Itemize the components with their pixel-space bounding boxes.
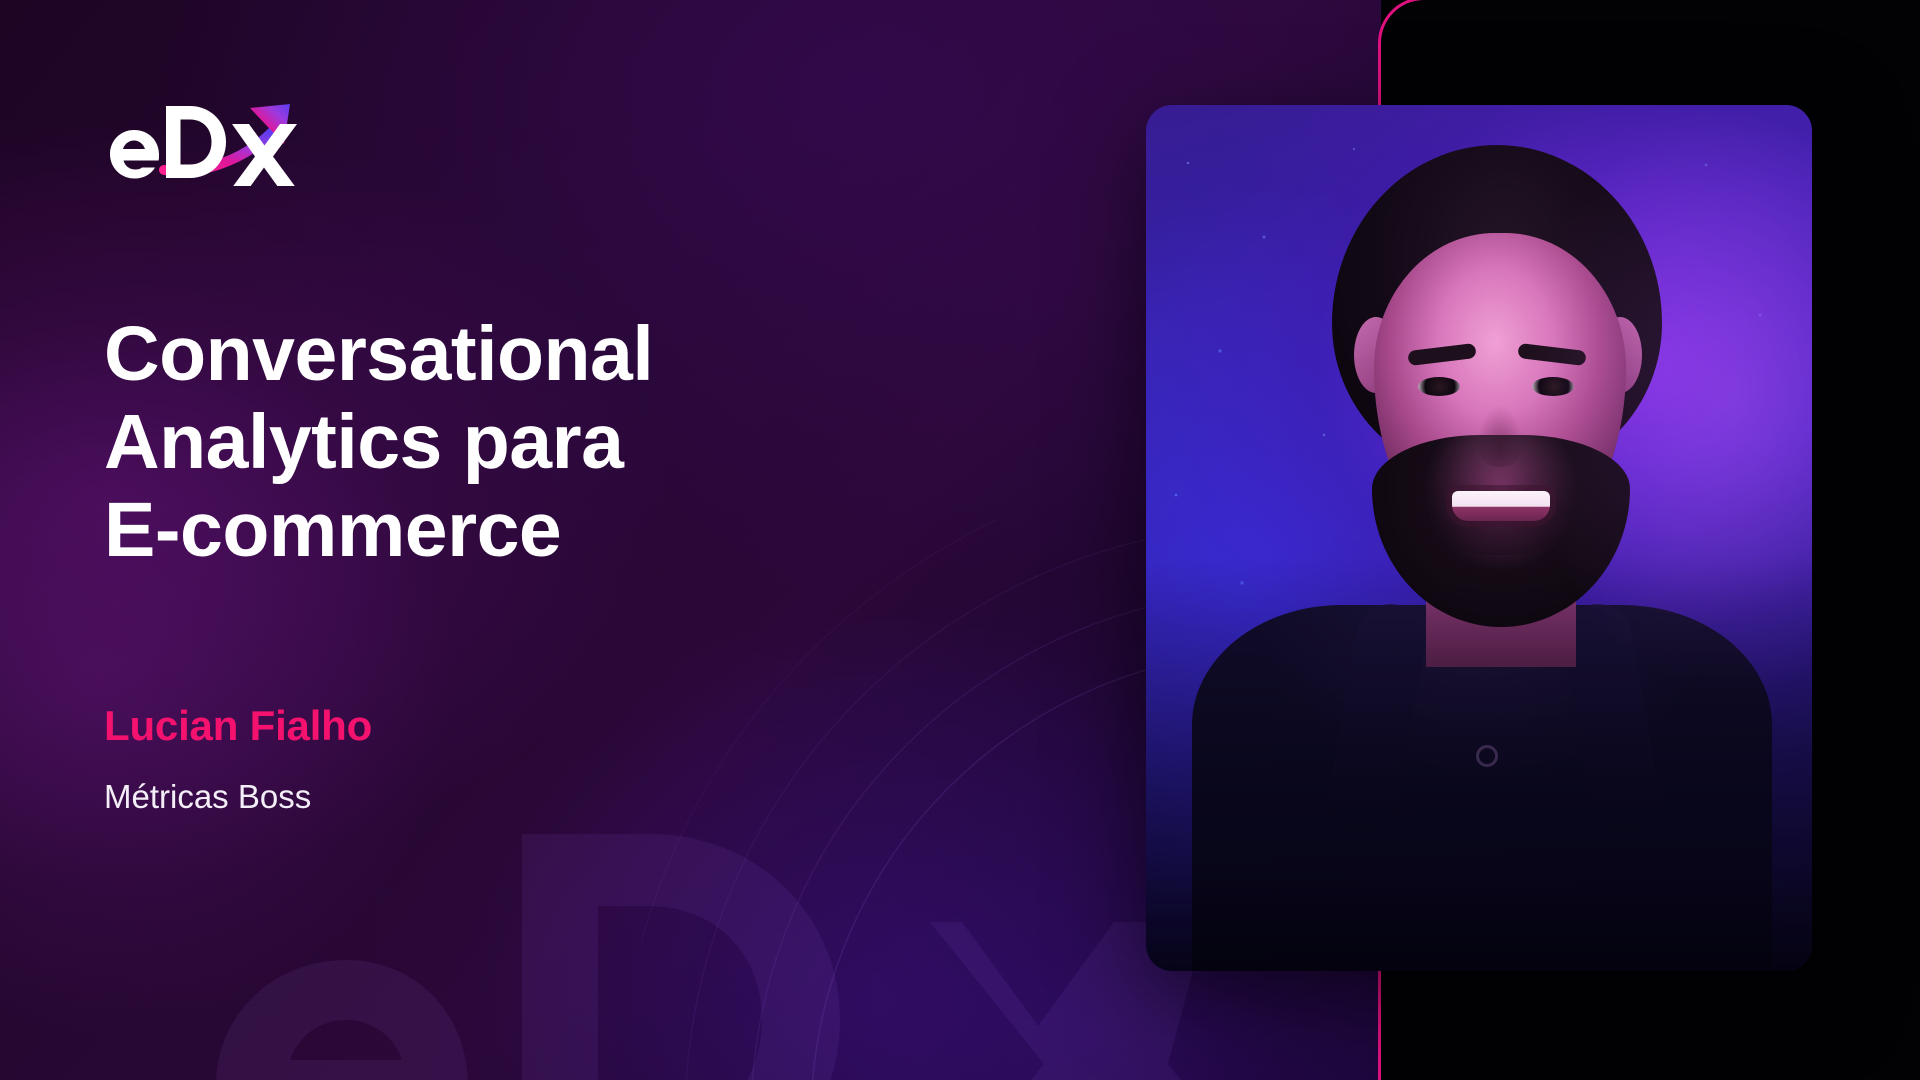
slide-content: Conversational Analytics para E-commerce… <box>104 0 864 1080</box>
subject-mouth <box>1452 491 1550 521</box>
subject-beard <box>1372 435 1630 627</box>
speaker-role: Métricas Boss <box>104 778 311 816</box>
title-line-3: E-commerce <box>104 486 804 574</box>
portrait-subject <box>1146 105 1812 971</box>
title-line-1: Conversational <box>104 310 804 398</box>
subject-zipper-icon <box>1476 745 1498 767</box>
edx-logo[interactable] <box>104 98 328 186</box>
subject-eye-left <box>1418 377 1460 396</box>
presentation-slide: Conversational Analytics para E-commerce… <box>0 0 1920 1080</box>
page-title: Conversational Analytics para E-commerce <box>104 310 804 574</box>
speaker-portrait <box>1146 105 1812 971</box>
speaker-name: Lucian Fialho <box>104 702 372 750</box>
subject-eye-right <box>1532 377 1574 396</box>
title-line-2: Analytics para <box>104 398 804 486</box>
